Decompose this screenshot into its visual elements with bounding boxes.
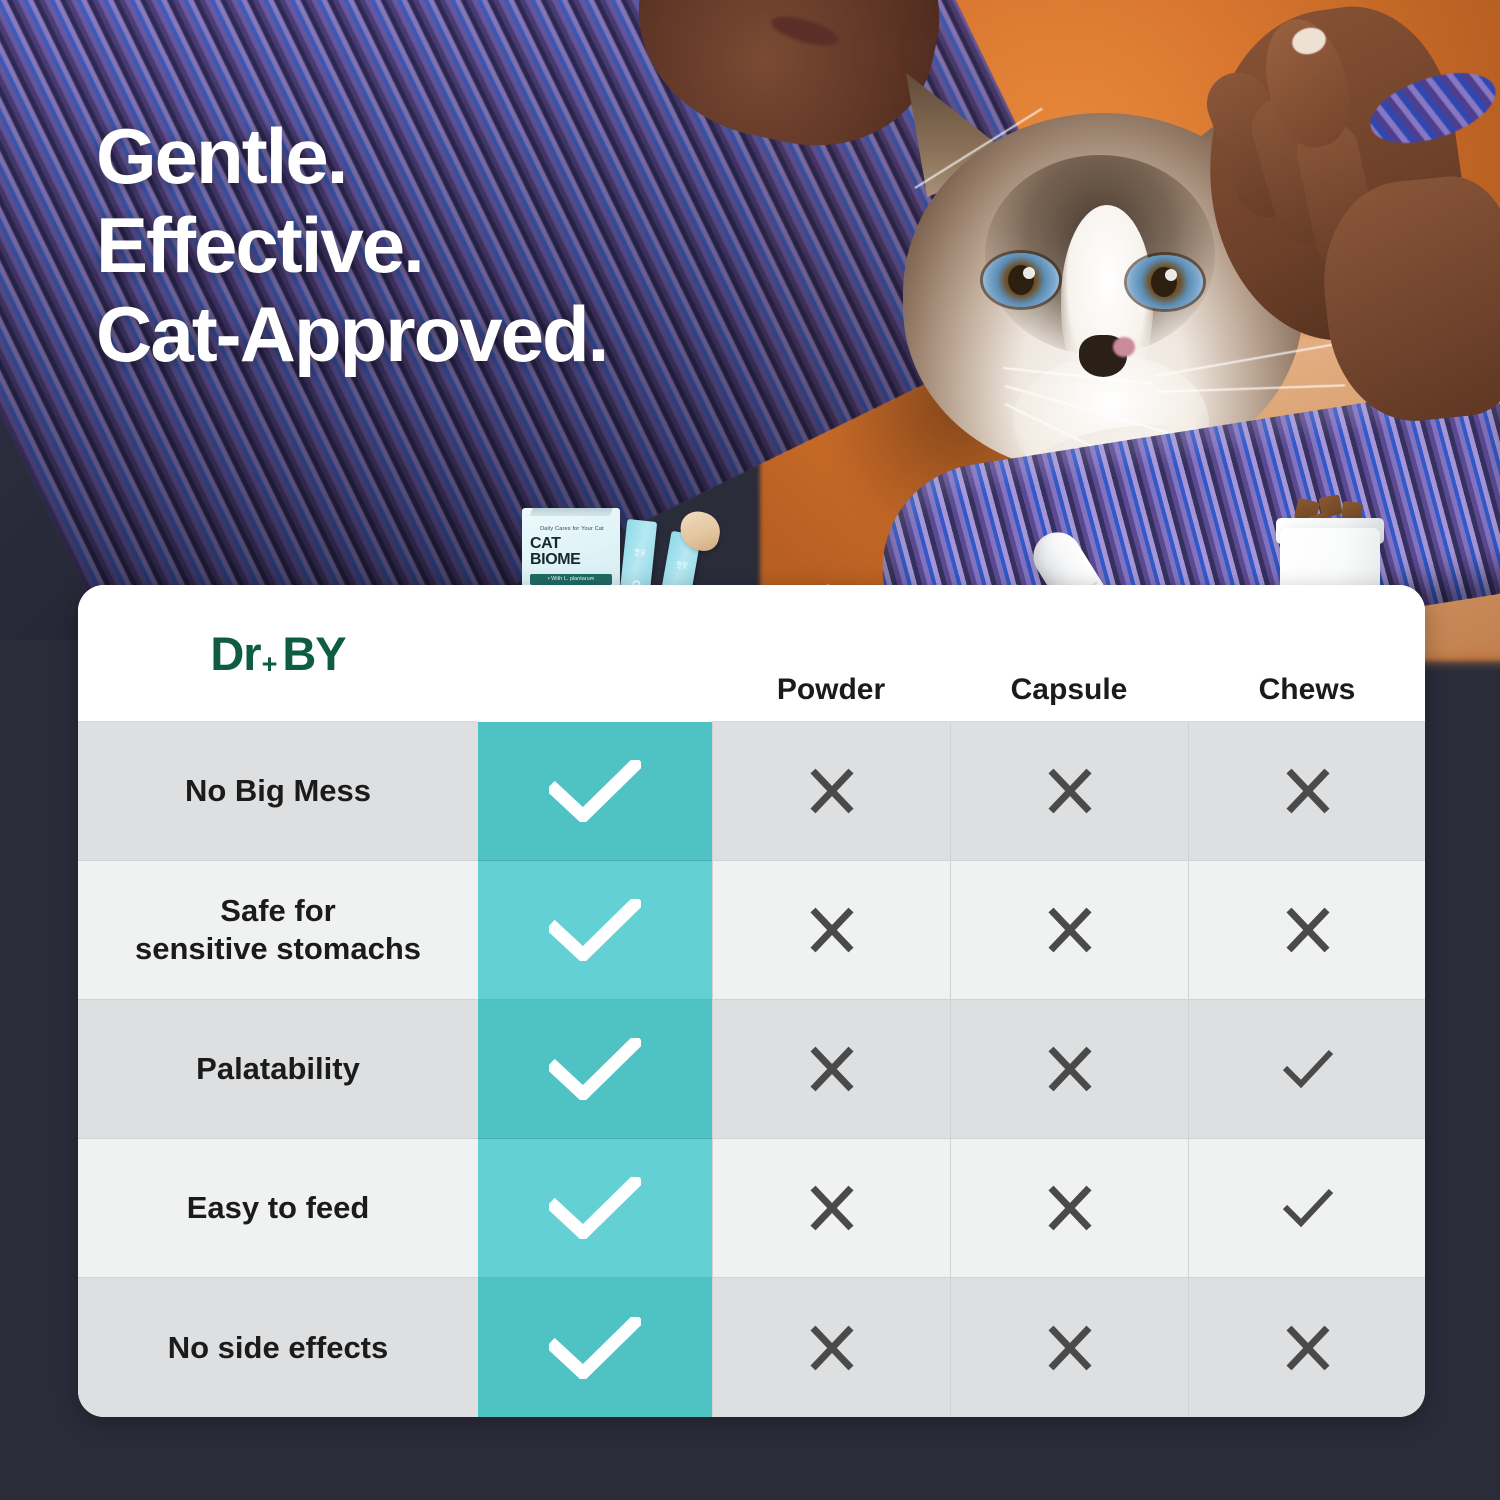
- chews-mark-cell: [1188, 1139, 1425, 1278]
- cross-icon: [1045, 766, 1095, 816]
- powder-mark-cell: [712, 861, 950, 1000]
- column-label-powder: Powder: [712, 673, 950, 707]
- powder-mark-cell: [712, 1139, 950, 1278]
- table-row: Easy to feed: [78, 1139, 1425, 1278]
- table-row: No Big Mess: [78, 722, 1425, 861]
- column-header-brand: [478, 585, 712, 722]
- cross-icon: [1045, 905, 1095, 955]
- cross-icon: [1045, 1183, 1095, 1233]
- capsule-mark-cell: [950, 1000, 1188, 1139]
- capsule-mark-cell: [950, 861, 1188, 1000]
- feature-line-2: sensitive stomachs: [135, 931, 421, 966]
- cross-icon: [1283, 766, 1333, 816]
- cross-icon: [807, 1183, 857, 1233]
- column-header-powder: Powder: [712, 585, 950, 722]
- column-label-chews: Chews: [1188, 673, 1425, 707]
- feature-line-1: No Big Mess: [185, 773, 371, 808]
- cross-icon: [807, 766, 857, 816]
- check-icon: [1281, 1188, 1335, 1228]
- feature-line-1: Easy to feed: [187, 1190, 370, 1225]
- feature-cell: Easy to feed: [78, 1139, 478, 1278]
- brand-logo-prefix: Dr: [210, 626, 260, 681]
- chews-mark-cell: [1188, 861, 1425, 1000]
- box-title-line-2: BIOME: [530, 552, 614, 568]
- brand-logo-suffix: BY: [282, 626, 345, 681]
- cat-nose-highlight: [1113, 337, 1135, 357]
- cross-icon: [807, 1044, 857, 1094]
- brand-logo-plus-icon: +: [262, 649, 277, 680]
- stick-brand-text: Dr. BY: [673, 560, 687, 577]
- cross-icon: [807, 905, 857, 955]
- cat-eye-glint-left: [1023, 267, 1035, 279]
- feature-cell: No Big Mess: [78, 722, 478, 861]
- brand-mark-cell: [478, 1000, 712, 1139]
- feature-label: Easy to feed: [171, 1189, 386, 1227]
- brand-logo-cell: Dr+BY: [78, 585, 478, 722]
- check-icon: [549, 1317, 641, 1379]
- check-icon: [1281, 1049, 1335, 1089]
- cross-icon: [1283, 905, 1333, 955]
- brand-mark-cell: [478, 1278, 712, 1417]
- box-title-line-1: CAT: [530, 536, 614, 552]
- brand-logo: Dr+BY: [210, 626, 345, 681]
- headline-line-2: Effective.: [96, 201, 607, 290]
- table-row: Safe for sensitive stomachs: [78, 861, 1425, 1000]
- check-icon: [549, 1177, 641, 1239]
- headline-line-1: Gentle.: [96, 112, 607, 201]
- column-header-chews: Chews: [1188, 585, 1425, 722]
- comparison-table: Dr+BY Powder Capsule Chews No Big Mess: [78, 585, 1425, 1417]
- cross-icon: [1045, 1044, 1095, 1094]
- brand-mark-cell: [478, 861, 712, 1000]
- feature-line-1: Palatability: [196, 1051, 360, 1086]
- check-icon: [549, 1038, 641, 1100]
- cross-icon: [1283, 1323, 1333, 1373]
- cat-eye-glint-right: [1165, 269, 1177, 281]
- box-title: CAT BIOME: [530, 536, 614, 569]
- feature-cell: Safe for sensitive stomachs: [78, 861, 478, 1000]
- box-top-flap: [530, 508, 614, 516]
- table-header-row: Dr+BY Powder Capsule Chews: [78, 585, 1425, 722]
- box-badge: • With L. plantarum: [530, 574, 612, 585]
- box-kicker-text: Daily Cares for Your Cat: [530, 526, 614, 532]
- hero-headline: Gentle. Effective. Cat-Approved.: [96, 112, 607, 379]
- check-icon: [549, 760, 641, 822]
- powder-mark-cell: [712, 1000, 950, 1139]
- feature-label: No Big Mess: [169, 772, 387, 810]
- chews-mark-cell: [1188, 722, 1425, 861]
- feature-cell: Palatability: [78, 1000, 478, 1139]
- feature-label: Safe for sensitive stomachs: [119, 892, 437, 968]
- check-icon: [549, 899, 641, 961]
- table-row: No side effects: [78, 1278, 1425, 1417]
- chews-mark-cell: [1188, 1278, 1425, 1417]
- headline-line-3: Cat-Approved.: [96, 290, 607, 379]
- table-row: Palatability: [78, 1000, 1425, 1139]
- stick-brand-text: Dr. BY: [632, 548, 646, 564]
- feature-label: Palatability: [180, 1050, 376, 1088]
- powder-mark-cell: [712, 722, 950, 861]
- feature-label: No side effects: [152, 1329, 405, 1367]
- capsule-mark-cell: [950, 722, 1188, 861]
- chews-mark-cell: [1188, 1000, 1425, 1139]
- capsule-mark-cell: [950, 1139, 1188, 1278]
- feature-line-1: Safe for: [220, 893, 335, 928]
- brand-mark-cell: [478, 1139, 712, 1278]
- cross-icon: [1045, 1323, 1095, 1373]
- comparison-table-card: Dr+BY Powder Capsule Chews No Big Mess: [78, 585, 1425, 1417]
- capsule-mark-cell: [950, 1278, 1188, 1417]
- column-label-capsule: Capsule: [950, 673, 1188, 707]
- feature-line-1: No side effects: [168, 1330, 389, 1365]
- feature-cell: No side effects: [78, 1278, 478, 1417]
- cross-icon: [807, 1323, 857, 1373]
- column-header-capsule: Capsule: [950, 585, 1188, 722]
- brand-mark-cell: [478, 722, 712, 861]
- powder-mark-cell: [712, 1278, 950, 1417]
